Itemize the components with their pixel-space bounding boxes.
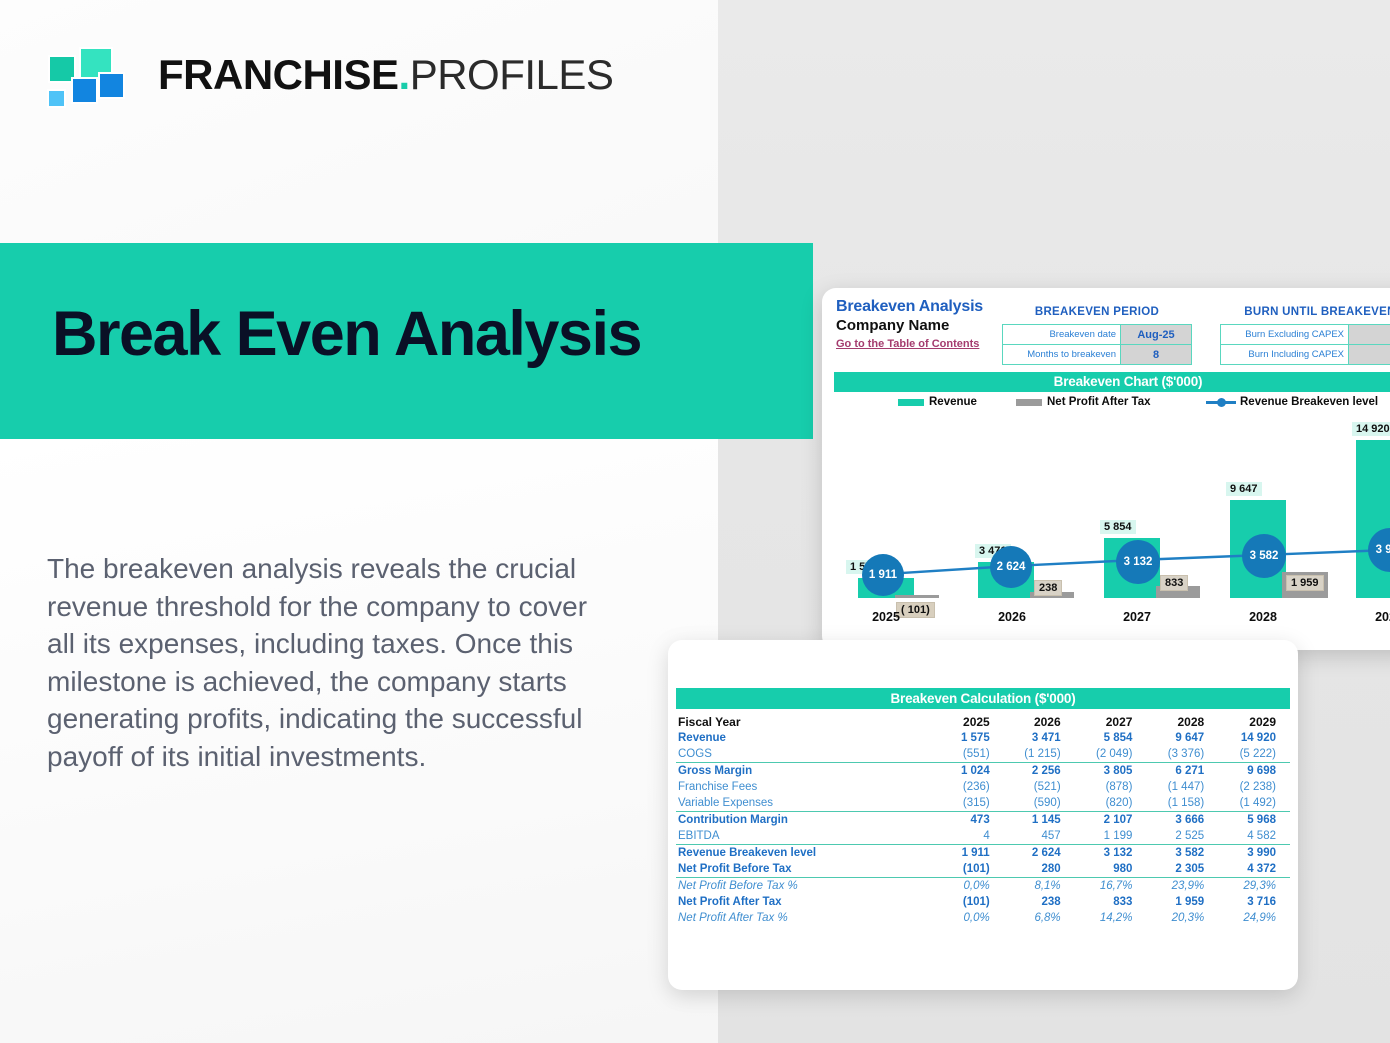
row-value: 9 647	[1146, 730, 1218, 746]
logo-wordmark: FRANCHISE.PROFILES	[158, 44, 613, 106]
hero-banner: Break Even Analysis	[0, 243, 813, 439]
table-row: Net Profit Before Tax %0,0%8,1%16,7%23,9…	[676, 878, 1290, 895]
column-header-2028: 2028	[1146, 714, 1218, 730]
legend-label-net-profit-after-tax: Net Profit After Tax	[1047, 396, 1151, 408]
months-to-breakeven-label: Months to breakeven	[1003, 345, 1121, 365]
x-axis-tick-2026: 2026	[998, 610, 1026, 624]
row-value: 3 716	[1218, 894, 1290, 910]
breakeven-bubble-2027: 3 132	[1116, 540, 1160, 584]
row-value: 833	[1075, 894, 1147, 910]
breakeven-calculation-card: Breakeven Calculation ($'000) Fiscal Yea…	[668, 640, 1298, 990]
logo-square-blue-right	[98, 72, 125, 99]
row-value: 1 575	[933, 730, 1004, 746]
row-label: Net Profit After Tax	[676, 894, 933, 910]
row-value: 20,3%	[1146, 910, 1218, 926]
row-value: 0,0%	[933, 910, 1004, 926]
x-axis-tick-2029: 2029	[1375, 610, 1390, 624]
table-band-title: Breakeven Calculation ($'000)	[676, 688, 1290, 709]
row-value: 2 624	[1004, 845, 1075, 862]
row-label: COGS	[676, 746, 933, 763]
row-value: (1 215)	[1004, 746, 1075, 763]
row-value: 1 959	[1146, 894, 1218, 910]
row-value: 23,9%	[1146, 878, 1218, 895]
breakeven-chart-plot: 1 575 ( 101) 1 911 3 471 238 2 624 5 854…	[840, 420, 1390, 598]
table-row: Burn Excluding CAPEX	[1221, 325, 1390, 345]
burn-including-capex-value[interactable]	[1349, 345, 1390, 365]
row-label: Revenue Breakeven level	[676, 845, 933, 862]
logo-dot: .	[399, 51, 410, 98]
body-paragraph: The breakeven analysis reveals the cruci…	[47, 550, 622, 775]
row-value: 2 305	[1146, 861, 1218, 878]
row-value: (521)	[1004, 779, 1075, 795]
row-label: EBITDA	[676, 828, 933, 845]
column-header-2026: 2026	[1004, 714, 1075, 730]
row-value: 2 256	[1004, 763, 1075, 780]
row-value: (236)	[933, 779, 1004, 795]
legend-item-revenue-breakeven-level[interactable]: Revenue Breakeven level	[1206, 396, 1378, 408]
column-header-2027: 2027	[1075, 714, 1147, 730]
breakeven-period-heading: BREAKEVEN PERIOD	[1002, 306, 1192, 318]
x-axis-tick-2027: 2027	[1123, 610, 1151, 624]
breakeven-bubble-2028: 3 582	[1242, 534, 1286, 578]
table-header-row: Fiscal Year 2025 2026 2027 2028 2029	[676, 714, 1290, 730]
months-to-breakeven-value[interactable]: 8	[1121, 345, 1192, 365]
row-value: 4 582	[1218, 828, 1290, 845]
row-value: (551)	[933, 746, 1004, 763]
legend-line-marker-icon	[1206, 398, 1236, 406]
row-value: 2 107	[1075, 812, 1147, 829]
row-value: (101)	[933, 894, 1004, 910]
row-value: 8,1%	[1004, 878, 1075, 895]
burn-until-breakeven-group: BURN UNTIL BREAKEVEN Burn Excluding CAPE…	[1220, 306, 1390, 365]
column-header-fiscal-year: Fiscal Year	[676, 714, 933, 730]
row-value: (2 238)	[1218, 779, 1290, 795]
logo-square-lightblue	[47, 89, 66, 108]
row-label: Net Profit Before Tax	[676, 861, 933, 878]
row-value: 14 920	[1218, 730, 1290, 746]
chart-legend: Revenue Net Profit After Tax Revenue Bre…	[834, 396, 1390, 414]
row-label: Net Profit Before Tax %	[676, 878, 933, 895]
row-value: 1 024	[933, 763, 1004, 780]
table-row: Revenue Breakeven level1 9112 6243 1323 …	[676, 845, 1290, 862]
row-label: Contribution Margin	[676, 812, 933, 829]
chart-band-title: Breakeven Chart ($'000)	[834, 372, 1390, 392]
row-value: (101)	[933, 861, 1004, 878]
row-value: (1 492)	[1218, 795, 1290, 812]
row-value: (2 049)	[1075, 746, 1147, 763]
row-value: 3 990	[1218, 845, 1290, 862]
legend-label-revenue-breakeven-level: Revenue Breakeven level	[1240, 396, 1378, 408]
row-value: 473	[933, 812, 1004, 829]
logo-word-franchise: FRANCHISE	[158, 51, 399, 98]
row-value: (820)	[1075, 795, 1147, 812]
row-value: 5 854	[1075, 730, 1147, 746]
breakeven-trend-line	[840, 420, 1390, 598]
legend-label-revenue: Revenue	[929, 396, 977, 408]
row-label: Franchise Fees	[676, 779, 933, 795]
burn-until-breakeven-heading: BURN UNTIL BREAKEVEN	[1220, 306, 1390, 318]
column-header-2025: 2025	[933, 714, 1004, 730]
table-row: Contribution Margin4731 1452 1073 6665 9…	[676, 812, 1290, 829]
row-value: 9 698	[1218, 763, 1290, 780]
row-value: (315)	[933, 795, 1004, 812]
breakeven-date-label: Breakeven date	[1003, 325, 1121, 345]
row-value: 4	[933, 828, 1004, 845]
breakeven-calculation-table: Fiscal Year 2025 2026 2027 2028 2029 Rev…	[676, 714, 1290, 926]
row-label: Gross Margin	[676, 763, 933, 780]
burn-excluding-capex-value[interactable]	[1349, 325, 1390, 345]
row-value: 0,0%	[933, 878, 1004, 895]
brand-logo: FRANCHISE.PROFILES	[45, 44, 545, 106]
row-value: 238	[1004, 894, 1075, 910]
column-header-2029: 2029	[1218, 714, 1290, 730]
row-value: 4 372	[1218, 861, 1290, 878]
legend-swatch-icon-net-profit	[1016, 399, 1042, 406]
row-value: 24,9%	[1218, 910, 1290, 926]
row-value: 3 805	[1075, 763, 1147, 780]
row-value: 280	[1004, 861, 1075, 878]
table-row: Net Profit After Tax %0,0%6,8%14,2%20,3%…	[676, 910, 1290, 926]
row-value: 6,8%	[1004, 910, 1075, 926]
row-value: 3 132	[1075, 845, 1147, 862]
row-value: (1 447)	[1146, 779, 1218, 795]
x-axis-tick-2028: 2028	[1249, 610, 1277, 624]
table-row: Burn Including CAPEX	[1221, 345, 1390, 365]
row-label: Revenue	[676, 730, 933, 746]
row-value: 980	[1075, 861, 1147, 878]
table-row: Breakeven date Aug-25	[1003, 325, 1192, 345]
page-title: Break Even Analysis	[52, 298, 641, 370]
breakeven-period-table: Breakeven date Aug-25 Months to breakeve…	[1002, 324, 1192, 365]
table-row: Gross Margin1 0242 2563 8056 2719 698	[676, 763, 1290, 780]
table-row: Months to breakeven 8	[1003, 345, 1192, 365]
breakeven-chart-card: Breakeven Analysis Company Name Go to th…	[822, 288, 1390, 650]
burn-until-breakeven-table: Burn Excluding CAPEX Burn Including CAPE…	[1220, 324, 1390, 365]
row-value: 1 911	[933, 845, 1004, 862]
row-value: 3 582	[1146, 845, 1218, 862]
breakeven-calculation-body: Revenue1 5753 4715 8549 64714 920COGS(55…	[676, 730, 1290, 926]
row-value: 3 666	[1146, 812, 1218, 829]
table-row: Revenue1 5753 4715 8549 64714 920	[676, 730, 1290, 746]
table-of-contents-link[interactable]: Go to the Table of Contents	[836, 338, 979, 350]
row-value: 14,2%	[1075, 910, 1147, 926]
row-value: 6 271	[1146, 763, 1218, 780]
legend-item-revenue[interactable]: Revenue	[898, 396, 977, 408]
burn-including-capex-label: Burn Including CAPEX	[1221, 345, 1349, 365]
row-label: Variable Expenses	[676, 795, 933, 812]
row-value: 1 145	[1004, 812, 1075, 829]
legend-item-net-profit-after-tax[interactable]: Net Profit After Tax	[1016, 396, 1151, 408]
table-row: Net Profit Before Tax(101)2809802 3054 3…	[676, 861, 1290, 878]
legend-swatch-icon-revenue	[898, 399, 924, 406]
row-value: 3 471	[1004, 730, 1075, 746]
table-row: EBITDA44571 1992 5254 582	[676, 828, 1290, 845]
row-value: (878)	[1075, 779, 1147, 795]
row-value: 29,3%	[1218, 878, 1290, 895]
row-value: 457	[1004, 828, 1075, 845]
logo-squares-icon	[45, 46, 107, 102]
row-label: Net Profit After Tax %	[676, 910, 933, 926]
row-value: (3 376)	[1146, 746, 1218, 763]
table-row: Franchise Fees(236)(521)(878)(1 447)(2 2…	[676, 779, 1290, 795]
logo-word-profiles: PROFILES	[410, 51, 614, 98]
breakeven-bubble-2026: 2 624	[990, 546, 1032, 588]
logo-square-blue-center	[71, 77, 98, 104]
table-row: Net Profit After Tax(101)2388331 9593 71…	[676, 894, 1290, 910]
row-value: (590)	[1004, 795, 1075, 812]
row-value: 16,7%	[1075, 878, 1147, 895]
x-axis-tick-2025: 2025	[872, 610, 900, 624]
row-value: (1 158)	[1146, 795, 1218, 812]
breakeven-period-group: BREAKEVEN PERIOD Breakeven date Aug-25 M…	[1002, 306, 1192, 365]
row-value: 2 525	[1146, 828, 1218, 845]
table-row: COGS(551)(1 215)(2 049)(3 376)(5 222)	[676, 746, 1290, 763]
row-value: 5 968	[1218, 812, 1290, 829]
row-value: 1 199	[1075, 828, 1147, 845]
chart-x-axis: 2025 2026 2027 2028 2029	[840, 610, 1390, 630]
breakeven-bubble-2025: 1 911	[862, 554, 904, 596]
breakeven-date-value[interactable]: Aug-25	[1121, 325, 1192, 345]
burn-excluding-capex-label: Burn Excluding CAPEX	[1221, 325, 1349, 345]
table-row: Variable Expenses(315)(590)(820)(1 158)(…	[676, 795, 1290, 812]
row-value: (5 222)	[1218, 746, 1290, 763]
